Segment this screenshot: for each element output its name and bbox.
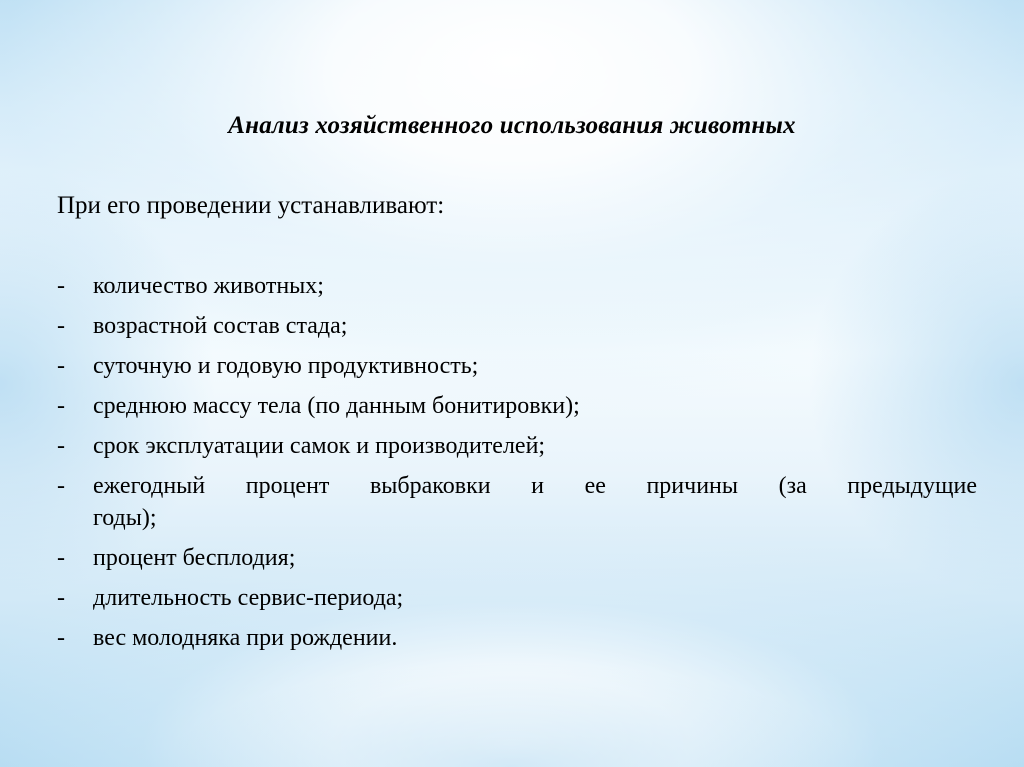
list-item: - процент бесплодия; [57, 542, 977, 574]
list-item-label: процент бесплодия; [93, 542, 977, 574]
bullet-dash-icon: - [57, 350, 93, 382]
list-item: - длительность сервис-периода; [57, 582, 977, 614]
bullet-dash-icon: - [57, 430, 93, 462]
bullet-dash-icon: - [57, 470, 93, 502]
list-item-label: возрастной состав стада; [93, 310, 977, 342]
list-item: - количество животных; [57, 270, 977, 302]
list-item-label: суточную и годовую продуктивность; [93, 350, 977, 382]
list-item: - вес молодняка при рождении. [57, 622, 977, 654]
list-item-label: вес молодняка при рождении. [93, 622, 977, 654]
list-item: - возрастной состав стада; [57, 310, 977, 342]
list-item-line-1: ежегодный процент выбраковки и ее причин… [93, 470, 977, 502]
list-item: - среднюю массу тела (по данным бонитиро… [57, 390, 977, 422]
list-item-label: ежегодный процент выбраковки и ее причин… [93, 470, 977, 534]
intro-text: При его проведении устанавливают: [57, 192, 444, 220]
list-item: - ежегодный процент выбраковки и ее прич… [57, 470, 977, 534]
list-item-label: длительность сервис-периода; [93, 582, 977, 614]
list-item: - срок эксплуатации самок и производител… [57, 430, 977, 462]
bullet-dash-icon: - [57, 622, 93, 654]
bullet-dash-icon: - [57, 542, 93, 574]
bullet-dash-icon: - [57, 270, 93, 302]
bullet-list: - количество животных; - возрастной сост… [57, 270, 977, 662]
page-title: Анализ хозяйственного использования живо… [0, 112, 1024, 140]
list-item-label: срок эксплуатации самок и производителей… [93, 430, 977, 462]
list-item-label: среднюю массу тела (по данным бонитировк… [93, 390, 977, 422]
slide: Анализ хозяйственного использования живо… [0, 0, 1024, 767]
list-item-line-2: годы); [93, 502, 977, 534]
bullet-dash-icon: - [57, 390, 93, 422]
bullet-dash-icon: - [57, 310, 93, 342]
list-item-label: количество животных; [93, 270, 977, 302]
bullet-dash-icon: - [57, 582, 93, 614]
list-item: - суточную и годовую продуктивность; [57, 350, 977, 382]
